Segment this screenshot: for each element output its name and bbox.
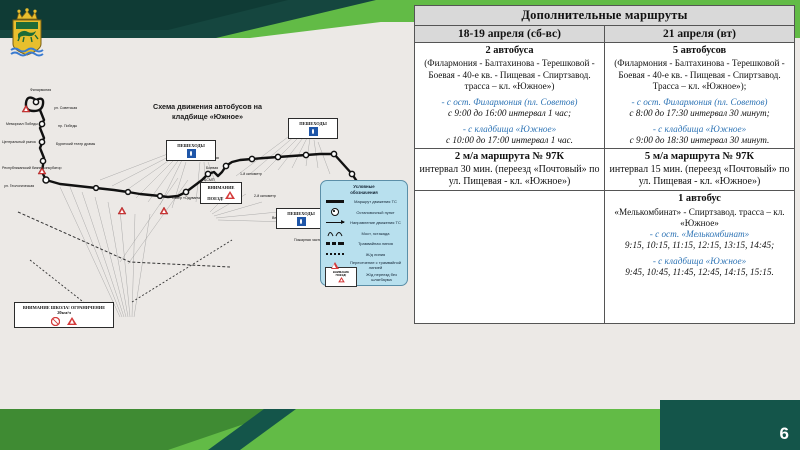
- legend-item-direction: Направление движения ТС: [324, 218, 405, 227]
- stop-label-memorial: Мемориал Победы: [6, 122, 38, 126]
- legend-item-stop: Остановочный пункт: [324, 208, 405, 217]
- legend-item-railway-label: Ж/д линия: [346, 252, 405, 257]
- route-map-panel: Схема движения автобусов на кладбище «Юж…: [0, 62, 410, 392]
- pedestrians-box-2-text: ПЕШЕХОДЫ: [299, 121, 327, 126]
- table-row: 2 м/а маршрута № 97К интервал 30 мин. (п…: [415, 148, 795, 191]
- cell-r1-c2-heading: 5 автобусов: [608, 45, 791, 57]
- ulan-ude-coat-of-arms: [7, 6, 47, 58]
- cell-r3-c2-block-2-body: 9:45, 10:45, 11:45, 12:45, 14:15, 15:15.: [608, 267, 791, 278]
- stop-label-geologicheskaya: ул. Геологическая: [4, 184, 34, 188]
- legend-item-rail-crossing: ВНИМАНИЕ ПОЕЗД! Ж/д переезд без шлагбаум…: [324, 272, 405, 282]
- cell-r3-c2-block-2-head: - с кладбища «Южное»: [608, 256, 791, 267]
- cell-r3-c1-empty: [415, 191, 605, 324]
- stop-label-1km: 1-й километр: [240, 172, 262, 176]
- warning-triangle-icon: [225, 191, 235, 200]
- solid-line-icon: [324, 197, 346, 206]
- cell-r2-c2: 5 м/а маршрута № 97К интервал 15 мин. (п…: [605, 148, 795, 191]
- pedestrian-sign-icon: [309, 127, 318, 136]
- stop-label-sovetskaya: ул. Советская: [54, 106, 77, 110]
- legend-item-bridge-label: Мост, эстакада: [346, 231, 405, 236]
- cell-r1-c1-block-2: - с кладбища «Южное» с 10:00 до 17:00 ин…: [418, 124, 601, 146]
- attention-train-line-1: ВНИМАНИЕ: [208, 185, 235, 190]
- legend-item-bridge: Мост, эстакада: [324, 229, 405, 238]
- pedestrian-sign-icon: [187, 149, 196, 158]
- map-legend: Условные обозначения Маршрут движения ТС…: [320, 180, 408, 286]
- cell-r2-c2-route: интервал 15 мин. (переезд «Почтовый» по …: [608, 164, 791, 188]
- warning-triangle-icon: [67, 317, 77, 326]
- pedestrian-sign-icon: [297, 217, 306, 226]
- tram-line-icon: [324, 239, 346, 248]
- cell-r1-c2-route: (Филармония - Балтахинова - Терешковой -…: [608, 58, 791, 91]
- cell-r1-c2: 5 автобусов (Филармония - Балтахинова - …: [605, 43, 795, 149]
- pedestrians-box-1-text: ПЕШЕХОДЫ: [177, 143, 205, 148]
- column-header-21-april: 21 апреля (вт): [605, 26, 795, 43]
- cell-r1-c1-block-1-head: - с ост. Филармония (пл. Советов): [418, 97, 601, 108]
- railway-line-icon: [324, 250, 346, 259]
- cell-r1-c1-heading: 2 автобуса: [418, 45, 601, 57]
- cell-r1-c1-block-2-body: с 10:00 до 17:00 интервал 1 час.: [418, 135, 601, 146]
- cell-r1-c2-block-1-body: с 8:00 до 17:30 интервал 30 минут;: [608, 108, 791, 119]
- stop-label-inkubator: Республиканский бизнес-инкубатор: [2, 166, 61, 170]
- legend-item-route-label: Маршрут движения ТС: [346, 199, 405, 204]
- stop-label-boevaya: Боевая: [206, 166, 218, 170]
- attention-train-line-2: ПОЕЗД!: [207, 196, 223, 201]
- attention-school-box: ВНИМАНИЕ ШКОЛА! ОГРАНИЧЕНИЕ 20км/ч: [14, 302, 114, 328]
- railway-crossing-sign-icon: ВНИМАНИЕ ПОЕЗД!: [324, 272, 358, 281]
- table-row: 1 автобус «Мелькомбинат» - Спиртзавод. т…: [415, 191, 795, 324]
- column-header-18-19-april: 18-19 апреля (сб-вс): [415, 26, 605, 43]
- stop-label-pozharnaya: Пожарная часть: [294, 238, 321, 242]
- pedestrians-box-3-text: ПЕШЕХОДЫ: [287, 211, 315, 216]
- slide-number: 6: [780, 424, 789, 444]
- pedestrians-box-1: ПЕШЕХОДЫ: [166, 140, 216, 161]
- additional-routes-table: Дополнительные маршруты 18-19 апреля (сб…: [414, 5, 795, 324]
- legend-item-stop-label: Остановочный пункт: [346, 210, 405, 215]
- cell-r3-c2-heading: 1 автобус: [608, 193, 791, 205]
- legend-item-tram: Трамвайная линия: [324, 239, 405, 248]
- legend-item-tram-label: Трамвайная линия: [346, 241, 405, 246]
- cell-r1-c1-block-1: - с ост. Филармония (пл. Советов) с 9:00…: [418, 97, 601, 119]
- legend-item-railway: Ж/д линия: [324, 250, 405, 259]
- cell-r1-c2-block-2-body: с 9:00 до 18:30 интервал 30 минут.: [608, 135, 791, 146]
- cell-r2-c1: 2 м/а маршрута № 97К интервал 30 мин. (п…: [415, 148, 605, 191]
- bridge-icon: [324, 229, 346, 238]
- cell-r3-c2-route: «Мелькомбинат» - Спиртзавод. трасса – кл…: [608, 207, 791, 229]
- cell-r3-c2: 1 автобус «Мелькомбинат» - Спиртзавод. т…: [605, 191, 795, 324]
- stop-label-filarmoniya: Филармония: [30, 88, 51, 92]
- cell-r1-c2-block-2: - с кладбища «Южное» с 9:00 до 18:30 инт…: [608, 124, 791, 146]
- stop-label-pobedy: пр. Победы: [58, 124, 77, 128]
- legend-item-rail-crossing-label: Ж/д переезд без шлагбаума: [358, 272, 405, 282]
- attention-train-box: ВНИМАНИЕ ПОЕЗД!: [200, 182, 242, 204]
- stop-label-2km: 2-й километр: [254, 194, 276, 198]
- slide-canvas: Схема движения автобусов на кладбище «Юж…: [0, 0, 800, 450]
- stop-label-teatr: Бурятский театр драмы: [56, 142, 95, 146]
- pedestrians-box-3: ПЕШЕХОДЫ: [276, 208, 326, 229]
- stop-point-icon: [324, 208, 346, 217]
- legend-item-direction-label: Направление движения ТС: [346, 220, 405, 225]
- stop-label-rynok: Центральный рынок: [2, 140, 36, 144]
- speed-limit-icon: [51, 317, 60, 326]
- table-title-row: Дополнительные маршруты: [415, 6, 795, 26]
- legend-item-route: Маршрут движения ТС: [324, 197, 405, 206]
- legend-title-line-2: обозначения: [321, 190, 407, 196]
- cell-r3-c2-block-1-head: - с ост. «Мелькомбинат»: [608, 229, 791, 240]
- cell-r1-c2-block-1: - с ост. Филармония (пл. Советов) с 8:00…: [608, 97, 791, 119]
- cell-r3-c2-block-1-body: 9:15, 10:15, 11:15, 12:15, 13:15, 14:45;: [608, 240, 791, 251]
- table-header-row: 18-19 апреля (сб-вс) 21 апреля (вт): [415, 26, 795, 43]
- table-title: Дополнительные маршруты: [415, 6, 795, 26]
- attention-school-line-1: ВНИМАНИЕ ШКОЛА!: [23, 305, 70, 310]
- legend-title: Условные обозначения: [321, 181, 407, 196]
- cell-r2-c2-heading: 5 м/а маршрута № 97К: [608, 151, 791, 164]
- pedestrians-box-2: ПЕШЕХОДЫ: [288, 118, 338, 139]
- direction-arrow-icon: [324, 218, 346, 227]
- table-row: 2 автобуса (Филармония - Балтахинова - Т…: [415, 43, 795, 149]
- cell-r3-c2-block-1: - с ост. «Мелькомбинат» 9:15, 10:15, 11:…: [608, 229, 791, 251]
- cell-r2-c1-route: интервал 30 мин. (переезд «Почтовый» по …: [418, 164, 601, 188]
- cell-r1-c2-block-1-head: - с ост. Филармония (пл. Советов): [608, 97, 791, 108]
- cell-r1-c2-block-2-head: - с кладбища «Южное»: [608, 124, 791, 135]
- cell-r3-c2-block-2: - с кладбища «Южное» 9:45, 10:45, 11:45,…: [608, 256, 791, 278]
- cell-r1-c1-block-1-body: с 9:00 до 16:00 интервал 1 час;: [418, 108, 601, 119]
- cell-r2-c1-heading: 2 м/а маршрута № 97К: [418, 151, 601, 164]
- cell-r1-c1: 2 автобуса (Филармония - Балтахинова - Т…: [415, 43, 605, 149]
- cell-r1-c1-block-2-head: - с кладбища «Южное»: [418, 124, 601, 135]
- cell-r1-c1-route: (Филармония - Балтахинова - Терешковой -…: [418, 58, 601, 91]
